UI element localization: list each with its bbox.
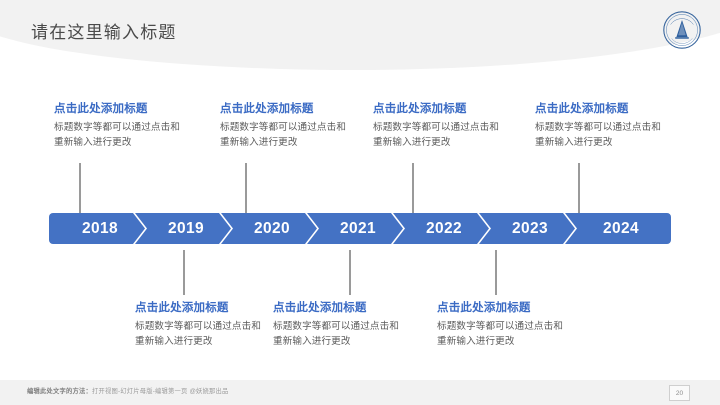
connector-line-bottom-1 [183,250,185,295]
timeline-year-label: 2024 [565,213,671,244]
timeline-segment-2024[interactable]: 2024 [565,213,671,244]
connector-line-top-3 [412,163,414,213]
timeline-segment-2019[interactable]: 2019 [135,213,231,244]
timeline-segment-2023[interactable]: 2023 [479,213,575,244]
block-title: 点击此处添加标题 [273,299,408,315]
page-title: 请在这里输入标题 [31,18,177,43]
block-body: 标题数字等都可以通过点击和重新输入进行更改 [535,121,670,150]
timeline-bar: 2018 2019 2020 2021 2022 [49,213,671,244]
block-title: 点击此处添加标题 [220,100,355,116]
connector-line-bottom-3 [495,250,497,295]
footer-bar: 编辑此处文字的方法：打开视图-幻灯片母版-编辑第一页 @妖娆那出品 [0,380,720,405]
timeline-year-label: 2018 [49,213,145,244]
page-number-badge: 20 [669,385,690,401]
text-block-bottom-1[interactable]: 点击此处添加标题 标题数字等都可以通过点击和重新输入进行更改 [135,299,270,349]
block-body: 标题数字等都可以通过点击和重新输入进行更改 [135,320,270,349]
footer-note: 编辑此处文字的方法：打开视图-幻灯片母版-编辑第一页 @妖娆那出品 [27,386,229,395]
connector-line-bottom-2 [349,250,351,295]
slide-canvas: 请在这里输入标题 点击此处添加标题 标题数字等都可以通过点击和重新输入进行更改 … [0,0,720,405]
timeline-segment-2018[interactable]: 2018 [49,213,145,244]
text-block-top-1[interactable]: 点击此处添加标题 标题数字等都可以通过点击和重新输入进行更改 [54,100,189,150]
text-block-bottom-3[interactable]: 点击此处添加标题 标题数字等都可以通过点击和重新输入进行更改 [437,299,572,349]
connector-line-top-1 [79,163,81,213]
block-title: 点击此处添加标题 [437,299,572,315]
block-title: 点击此处添加标题 [135,299,270,315]
timeline-year-label: 2023 [479,213,575,244]
timeline-segment-2022[interactable]: 2022 [393,213,489,244]
university-crest-icon [662,10,702,50]
text-block-top-3[interactable]: 点击此处添加标题 标题数字等都可以通过点击和重新输入进行更改 [373,100,508,150]
timeline-year-label: 2019 [135,213,231,244]
text-block-top-4[interactable]: 点击此处添加标题 标题数字等都可以通过点击和重新输入进行更改 [535,100,670,150]
timeline-segment-2021[interactable]: 2021 [307,213,403,244]
timeline-year-label: 2020 [221,213,317,244]
text-block-bottom-2[interactable]: 点击此处添加标题 标题数字等都可以通过点击和重新输入进行更改 [273,299,408,349]
connector-line-top-4 [578,163,580,213]
text-block-top-2[interactable]: 点击此处添加标题 标题数字等都可以通过点击和重新输入进行更改 [220,100,355,150]
block-body: 标题数字等都可以通过点击和重新输入进行更改 [220,121,355,150]
timeline-year-label: 2021 [307,213,403,244]
timeline-year-label: 2022 [393,213,489,244]
block-title: 点击此处添加标题 [373,100,508,116]
timeline-segment-2020[interactable]: 2020 [221,213,317,244]
footer-note-rest: 打开视图-幻灯片母版-编辑第一页 @妖娆那出品 [92,388,229,395]
block-title: 点击此处添加标题 [535,100,670,116]
block-body: 标题数字等都可以通过点击和重新输入进行更改 [437,320,572,349]
connector-line-top-2 [245,163,247,213]
block-title: 点击此处添加标题 [54,100,189,116]
block-body: 标题数字等都可以通过点击和重新输入进行更改 [54,121,189,150]
block-body: 标题数字等都可以通过点击和重新输入进行更改 [373,121,508,150]
footer-note-label: 编辑此处文字的方法： [27,388,92,395]
block-body: 标题数字等都可以通过点击和重新输入进行更改 [273,320,408,349]
